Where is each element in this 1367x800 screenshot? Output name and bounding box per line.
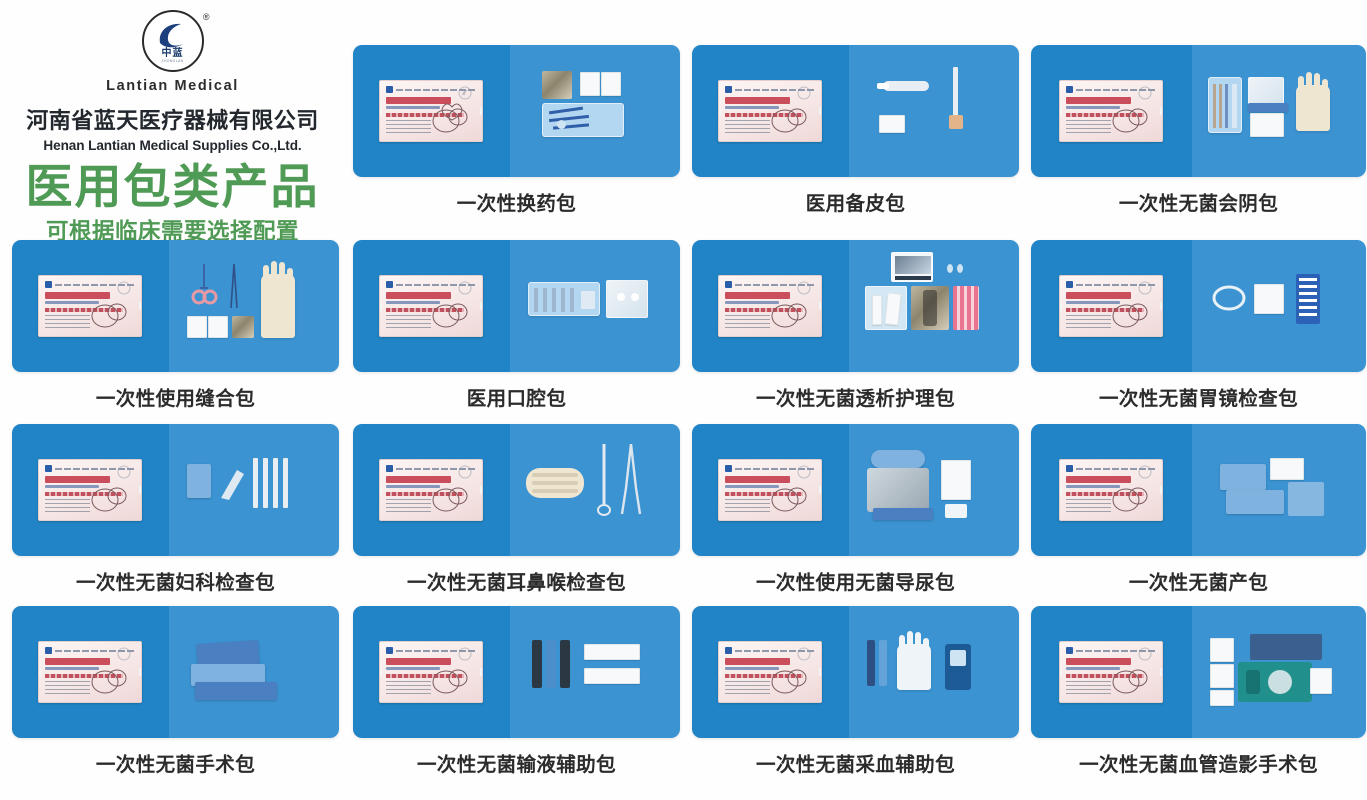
product-image-9 — [692, 424, 1019, 556]
product-catalog-page: 中蓝 ZHONGLAN ® Lantian Medical 河南省蓝天医疗器械有… — [0, 0, 1367, 800]
gauze-icon — [1254, 284, 1284, 314]
probe-icon — [596, 444, 612, 516]
card-left-half — [1031, 45, 1192, 177]
card-right-half — [510, 240, 680, 372]
gauze-icon — [1210, 690, 1234, 706]
product-card-8[interactable]: 一次性无菌耳鼻喉检查包 — [353, 424, 680, 595]
product-caption: 一次性无菌胃镜检查包 — [1099, 382, 1298, 411]
product-caption: 一次性无菌妇科检查包 — [76, 566, 275, 595]
card-left-half — [692, 45, 849, 177]
pouch-logo-icon — [1138, 465, 1152, 479]
card-right-half — [1192, 240, 1366, 372]
card-left-half — [12, 240, 169, 372]
pouch-logo-icon — [797, 86, 811, 100]
mouthpiece-icon — [1212, 284, 1246, 312]
product-pouch — [38, 459, 142, 521]
card-left-half — [353, 606, 510, 738]
sponge-icon — [949, 115, 963, 129]
card-right-half — [169, 606, 339, 738]
product-image-4 — [353, 240, 680, 372]
product-pouch — [1059, 275, 1163, 337]
card-right-half — [510, 424, 680, 556]
pouch-artwork-icon — [428, 292, 474, 332]
pouch-artwork-icon — [1108, 97, 1154, 137]
tape-strip-icon — [584, 644, 640, 660]
product-image-13 — [692, 606, 1019, 738]
gauze-icon — [1210, 664, 1234, 688]
tube-icon — [879, 640, 887, 686]
foil-pack-icon — [911, 286, 949, 330]
product-pouch — [718, 641, 822, 703]
pouch-logo-icon — [1138, 647, 1152, 661]
product-caption: 一次性无菌采血辅助包 — [756, 748, 955, 777]
razor-icon — [883, 81, 929, 91]
product-card-11[interactable]: 一次性无菌手术包 — [12, 606, 339, 777]
product-pouch — [379, 275, 483, 337]
urine-bag-icon — [867, 468, 929, 512]
drape-icon — [941, 460, 971, 500]
product-caption: 一次性使用缝合包 — [96, 382, 255, 411]
product-caption: 一次性无菌会阴包 — [1119, 187, 1278, 216]
product-image-12 — [353, 606, 680, 738]
card-right-half — [1192, 45, 1366, 177]
gauze-icon — [1270, 458, 1304, 480]
product-image-10 — [1031, 424, 1366, 556]
gauze-icon — [879, 115, 905, 133]
pouch-artwork-icon — [767, 476, 813, 516]
product-pouch — [1059, 80, 1163, 142]
card-right-half — [849, 606, 1019, 738]
gauze-icon — [208, 316, 228, 338]
card-right-half — [849, 424, 1019, 556]
product-pouch — [718, 275, 822, 337]
pouch-brand-mark — [386, 86, 393, 93]
pouch-artwork-icon — [87, 292, 133, 332]
pouch-logo-icon — [117, 465, 131, 479]
glove-icon — [261, 274, 295, 338]
product-image-3 — [12, 240, 339, 372]
pouch-logo-icon — [458, 465, 472, 479]
suture-pack-icon — [232, 316, 254, 338]
pouch-logo-icon — [458, 86, 472, 100]
pouch-artwork-icon — [87, 658, 133, 698]
card-right-half — [169, 424, 339, 556]
swab-tray-icon — [1208, 77, 1242, 133]
teal-tray-icon — [1238, 662, 1312, 702]
product-image-1 — [692, 45, 1019, 177]
product-card-6[interactable]: 一次性无菌胃镜检查包 — [1031, 240, 1366, 411]
pouch-artwork-icon — [428, 476, 474, 516]
gauze-icon — [1310, 668, 1332, 694]
foil-pack-icon — [542, 71, 572, 99]
product-card-7[interactable]: 一次性无菌妇科检查包 — [12, 424, 339, 595]
swab-icon — [560, 640, 570, 688]
pouch-logo-icon — [1138, 86, 1152, 100]
drape-icon — [187, 464, 211, 498]
gauze-icon — [1250, 113, 1284, 137]
product-caption: 一次性无菌透析护理包 — [756, 382, 955, 411]
product-pouch — [1059, 641, 1163, 703]
product-card-10[interactable]: 一次性无菌产包 — [1031, 424, 1366, 595]
swab-stick-icon — [283, 458, 288, 508]
scissors-icon — [189, 262, 219, 308]
product-card-12[interactable]: 一次性无菌输液辅助包 — [353, 606, 680, 777]
pouch-logo-icon — [458, 281, 472, 295]
product-pouch — [379, 80, 483, 142]
swab-stick-icon — [263, 458, 268, 508]
product-card-2[interactable]: 一次性无菌会阴包 — [1031, 45, 1366, 216]
product-card-13[interactable]: 一次性无菌采血辅助包 — [692, 606, 1019, 777]
product-caption: 医用备皮包 — [806, 187, 906, 216]
swab-stick-icon — [273, 458, 278, 508]
product-image-2 — [1031, 45, 1366, 177]
card-right-half — [1192, 424, 1366, 556]
card-left-half — [12, 424, 169, 556]
card-left-half — [692, 424, 849, 556]
pouch-logo-icon — [117, 647, 131, 661]
pouch-artwork-icon — [1108, 658, 1154, 698]
pouch-artwork-icon — [767, 97, 813, 137]
product-caption: 一次性无菌耳鼻喉检查包 — [407, 566, 626, 595]
product-caption: 医用口腔包 — [467, 382, 567, 411]
product-image-0 — [353, 45, 680, 177]
pink-strip-icon — [953, 286, 979, 330]
tourniquet-icon — [867, 640, 875, 686]
drape-icon — [1288, 482, 1324, 516]
pouch-artwork-icon — [1108, 292, 1154, 332]
product-pouch — [379, 459, 483, 521]
product-image-8 — [353, 424, 680, 556]
card-right-half — [1192, 606, 1366, 738]
drape-pack-icon — [1248, 77, 1284, 105]
card-left-half — [353, 424, 510, 556]
card-left-half — [1031, 240, 1192, 372]
pouch-logo-icon — [797, 465, 811, 479]
film-pack-icon — [865, 286, 907, 330]
drape-pack-icon — [606, 280, 648, 318]
product-caption: 一次性无菌输液辅助包 — [417, 748, 616, 777]
pouch-artwork-icon — [428, 97, 474, 137]
pouch-logo-icon — [797, 281, 811, 295]
card-right-half — [849, 240, 1019, 372]
pouch-artwork-icon — [428, 658, 474, 698]
product-caption: 一次性无菌产包 — [1129, 566, 1268, 595]
tube-holder-icon — [945, 644, 971, 690]
card-left-half — [692, 240, 849, 372]
product-caption: 一次性使用无菌导尿包 — [756, 566, 955, 595]
photo-pack-icon — [891, 252, 933, 282]
card-left-half — [12, 606, 169, 738]
product-card-3[interactable]: 一次性使用缝合包 — [12, 240, 339, 411]
cotton-rolls-icon — [526, 468, 584, 498]
product-pouch — [1059, 459, 1163, 521]
pouch-logo-icon — [1138, 281, 1152, 295]
tape-strip-icon — [584, 668, 640, 684]
glove-icon — [897, 644, 931, 690]
card-right-half — [510, 606, 680, 738]
product-image-6 — [1031, 240, 1366, 372]
forceps-icon — [620, 444, 642, 516]
pouch-artwork-icon — [767, 292, 813, 332]
swab-icon — [546, 640, 556, 688]
pouch-artwork-icon — [87, 476, 133, 516]
pouch-logo-icon — [458, 647, 472, 661]
product-image-14 — [1031, 606, 1366, 738]
product-image-7 — [12, 424, 339, 556]
product-caption: 一次性无菌手术包 — [96, 748, 255, 777]
catheter-icon — [871, 450, 925, 468]
product-card-4[interactable]: 医用口腔包 — [353, 240, 680, 411]
gauze-icon — [1210, 638, 1234, 662]
product-card-1[interactable]: 医用备皮包 — [692, 45, 1019, 216]
drape-icon — [1220, 464, 1266, 490]
pouch-logo-icon — [797, 647, 811, 661]
instrument-tray-icon — [542, 103, 624, 137]
pouch-logo-icon — [117, 281, 131, 295]
gauze-icon — [601, 72, 621, 96]
pouch-artwork-icon — [1108, 476, 1154, 516]
card-right-half — [849, 45, 1019, 177]
card-left-half — [353, 45, 510, 177]
product-pouch — [38, 641, 142, 703]
gauze-icon — [187, 316, 207, 338]
product-pouch — [379, 641, 483, 703]
card-left-half — [1031, 424, 1192, 556]
gauze-icon — [580, 72, 600, 96]
product-card-5[interactable]: 一次性无菌透析护理包 — [692, 240, 1019, 411]
card-left-half — [353, 240, 510, 372]
product-caption: 一次性换药包 — [457, 187, 576, 216]
product-image-5 — [692, 240, 1019, 372]
card-right-half — [169, 240, 339, 372]
instrument-tray-icon — [528, 282, 600, 316]
product-grid: 一次性换药包 — [0, 0, 1367, 800]
card-right-half — [510, 45, 680, 177]
forceps-icon — [227, 264, 241, 308]
swab-stick-icon — [253, 458, 258, 508]
glove-icon — [1296, 85, 1330, 131]
swab-icon — [532, 640, 542, 688]
comb-icon — [1296, 274, 1320, 324]
drape-icon — [1226, 490, 1284, 514]
product-image-11 — [12, 606, 339, 738]
card-left-half — [1031, 606, 1192, 738]
drape-icon — [1250, 634, 1322, 660]
folded-drape-icon — [195, 682, 277, 700]
pouch-artwork-icon — [767, 658, 813, 698]
speculum-icon — [217, 462, 247, 502]
product-pouch — [718, 80, 822, 142]
product-card-9[interactable]: 一次性使用无菌导尿包 — [692, 424, 1019, 595]
card-left-half — [692, 606, 849, 738]
product-card-0[interactable]: 一次性换药包 — [353, 45, 680, 216]
product-pouch — [718, 459, 822, 521]
product-caption: 一次性无菌血管造影手术包 — [1079, 748, 1318, 777]
product-pouch — [38, 275, 142, 337]
product-card-14[interactable]: 一次性无菌血管造影手术包 — [1031, 606, 1366, 777]
